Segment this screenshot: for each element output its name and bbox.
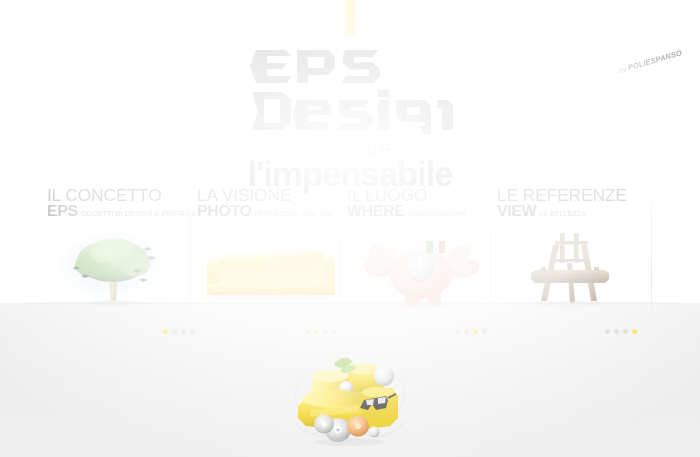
column-thumbnail[interactable] xyxy=(347,229,493,309)
dot-1[interactable] xyxy=(605,329,610,334)
logo-byline: byPOLIESPANSO xyxy=(618,48,683,75)
column-description: LA BELLEZZA xyxy=(539,211,586,220)
column-key: PHOTO xyxy=(197,204,252,220)
dot-3[interactable] xyxy=(473,329,478,334)
column-key: VIEW xyxy=(497,204,536,220)
dot-2[interactable] xyxy=(464,329,469,334)
site-header: byPOLIESPANSO creare l'impensabile xyxy=(0,46,700,193)
dot-4[interactable] xyxy=(632,329,637,334)
dot-2[interactable] xyxy=(314,329,319,334)
logo-byline-brand: POLIESPANSO xyxy=(627,48,683,72)
column-dots[interactable] xyxy=(605,329,637,334)
dot-3[interactable] xyxy=(623,329,628,334)
wooden-easel-icon xyxy=(497,229,643,309)
tree-with-birds-icon xyxy=(47,229,193,309)
column-description: OGGETTI DI DESIGN E FANTASIA xyxy=(81,211,196,220)
category-column-luogo[interactable]: IL LUOGO WHERE IMMAGINAZIONE xyxy=(345,186,495,336)
dot-1[interactable] xyxy=(163,329,168,334)
column-key: WHERE xyxy=(347,204,405,220)
column-title: LA VISIONE xyxy=(197,186,343,204)
column-subtitle-row: PHOTO PERCEZIONI POSITIVE xyxy=(197,204,343,220)
dot-2[interactable] xyxy=(172,329,177,334)
hero-object[interactable] xyxy=(288,352,412,448)
column-subtitle-row: WHERE IMMAGINAZIONE xyxy=(347,204,493,220)
column-description: PERCEZIONI POSITIVE xyxy=(255,211,335,220)
page-root: byPOLIESPANSO creare l'impensabile IL CO… xyxy=(0,0,700,457)
category-column-visione[interactable]: LA VISIONE PHOTO PERCEZIONI POSITIVE xyxy=(195,186,345,336)
column-dots[interactable] xyxy=(305,329,337,334)
column-subtitle-row: EPS OGGETTI DI DESIGN E FANTASIA xyxy=(47,204,193,220)
dot-4[interactable] xyxy=(482,329,487,334)
dot-4[interactable] xyxy=(332,329,337,334)
category-column-concetto[interactable]: IL CONCETTO EPS OGGETTI DI DESIGN E FANT… xyxy=(45,186,195,336)
column-dots[interactable] xyxy=(163,329,195,334)
dot-1[interactable] xyxy=(455,329,460,334)
top-accent-bar xyxy=(345,0,355,36)
category-columns: IL CONCETTO EPS OGGETTI DI DESIGN E FANT… xyxy=(45,186,665,336)
column-title: IL CONCETTO xyxy=(47,186,193,204)
column-thumbnail[interactable] xyxy=(47,229,193,309)
dot-1[interactable] xyxy=(305,329,310,334)
column-subtitle-row: VIEW LA BELLEZZA xyxy=(497,204,643,220)
yellow-sofa-icon xyxy=(197,229,343,309)
dot-3[interactable] xyxy=(323,329,328,334)
column-key: EPS xyxy=(47,204,78,220)
column-dots[interactable] xyxy=(455,329,487,334)
yellow-abstract-object-icon xyxy=(288,352,412,448)
column-title: IL LUOGO xyxy=(347,186,493,204)
column-title: LE REFERENZE xyxy=(497,186,643,204)
dot-3[interactable] xyxy=(181,329,186,334)
hands-holding-globe-icon xyxy=(347,229,493,309)
dot-2[interactable] xyxy=(614,329,619,334)
category-column-referenze[interactable]: LE REFERENZE VIEW LA BELLEZZA xyxy=(495,186,645,336)
column-thumbnail[interactable] xyxy=(497,229,643,309)
column-thumbnail[interactable] xyxy=(197,229,343,309)
eps-design-logo-mark[interactable] xyxy=(247,46,453,134)
logo-byline-prefix: by xyxy=(618,66,627,75)
column-description: IMMAGINAZIONE xyxy=(408,211,467,220)
